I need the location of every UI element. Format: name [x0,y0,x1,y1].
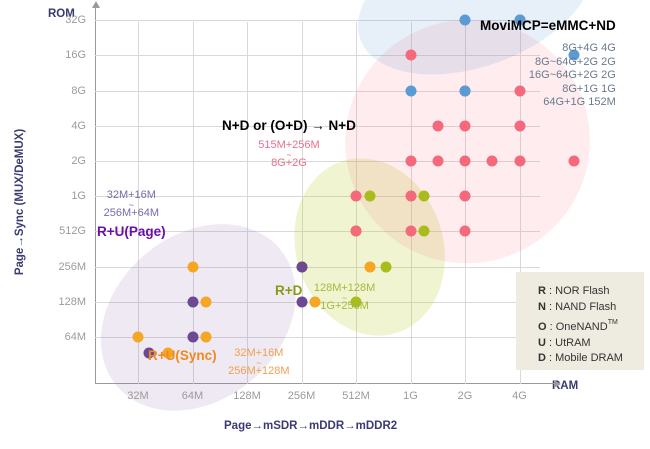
legend-row: N : NAND Flash [538,300,623,316]
y-tick-label: 256M [58,261,86,273]
data-point [296,261,307,272]
legend-value: : NAND Flash [546,301,616,313]
y-axis-arrow-icon [92,1,100,8]
cluster-label-nd-title: N+D or (O+D) → N+D [222,118,356,133]
legend-value: : OneNAND [547,321,608,333]
data-point [364,191,375,202]
legend-rows: R : NOR FlashN : NAND FlashO : OneNANDTM… [538,284,623,367]
data-point [405,191,416,202]
cluster-label-movimcp-title: MoviMCP=eMMC+ND [480,18,616,33]
legend-row: R : NOR Flash [538,284,623,300]
data-point [187,261,198,272]
x-tick-label: 64M [182,390,203,402]
data-point [569,156,580,167]
legend-key: D [538,352,546,364]
legend-box: R : NOR FlashN : NAND FlashO : OneNANDTM… [516,272,644,370]
legend-value: : NOR Flash [546,285,610,297]
data-point [405,226,416,237]
data-point [133,332,144,343]
data-point [514,120,525,131]
legend-key: U [538,337,546,349]
cluster-label-rupage: 32M+16M ~ 256M+64M R+U(Page) [97,190,166,239]
cluster-label-rupage-range-bottom: 256M+64M [97,208,166,220]
cluster-label-rd-title: R+D [275,283,302,298]
movimcp-spec-line: 8G+1G 1G [480,83,616,97]
cluster-label-movimcp: MoviMCP=eMMC+ND 8G+4G 4G8G~64G+2G 2G16G~… [480,18,616,110]
legend-key: R [538,285,546,297]
data-point [380,261,391,272]
data-point [405,50,416,61]
data-point [432,156,443,167]
y-tick-label: 2G [71,155,86,167]
data-point [419,226,430,237]
y-tick-label: 32G [65,14,86,26]
x-tick-label: 32M [127,390,148,402]
cluster-label-rd-range-bottom: 1G+256M [314,301,375,313]
data-point [201,332,212,343]
legend-key: N [538,301,546,313]
legend-row: U : UtRAM [538,336,623,352]
data-point [351,191,362,202]
data-point [460,191,471,202]
cluster-label-rusync-title: R+U(Sync) [148,348,217,363]
cluster-label-nd: N+D or (O+D) → N+D 515M+256M ~ 8G+2G [222,118,356,169]
data-point [460,226,471,237]
y-tick-label: 128M [58,296,86,308]
data-point [419,191,430,202]
legend-value: : Mobile DRAM [546,352,623,364]
x-tick-label: 4G [512,390,527,402]
cluster-label-rupage-title: R+U(Page) [97,224,166,239]
x-axis-arrow-icon [554,380,561,388]
legend-superscript: TM [608,319,618,326]
data-point [187,332,198,343]
legend-row: D : Mobile DRAM [538,351,623,367]
y-tick-label: 4G [71,120,86,132]
data-point [432,120,443,131]
cluster-label-nd-range-bottom: 8G+2G [222,158,356,170]
movimcp-spec-line: 8G~64G+2G 2G [480,56,616,70]
y-tick-label: 1G [71,190,86,202]
y-axis-title: Page→Sync (MUX/DeMUX) [14,122,26,282]
y-tick-label: 8G [71,85,86,97]
x-axis-title: Page→mSDR→mDDR→mDDR2 [224,420,397,432]
x-tick-label: 512M [342,390,370,402]
data-point [460,15,471,26]
movimcp-spec-line: 16G~64G+2G 2G [480,69,616,83]
data-point [460,156,471,167]
legend-key: O [538,321,547,333]
y-tick-label: 512G [59,225,86,237]
x-tick-label: 128M [233,390,261,402]
x-tick-label: 256M [288,390,316,402]
data-point [364,261,375,272]
data-point [460,120,471,131]
x-tick-label: 1G [403,390,418,402]
data-point [351,226,362,237]
x-tick-label: 2G [458,390,473,402]
data-point [460,85,471,96]
legend-value: : UtRAM [546,337,591,349]
y-tick-label: 16G [65,49,86,61]
movimcp-spec-line: 8G+4G 4G [480,42,616,56]
cluster-label-movimcp-specs: 8G+4G 4G8G~64G+2G 2G16G~64G+2G 2G8G+1G 1… [480,42,616,110]
data-point [201,296,212,307]
data-point [187,296,198,307]
cluster-label-rusync-range-bottom: 256M+128M [228,366,289,378]
data-point [405,85,416,96]
chart-root: ROM RAM Page→Sync (MUX/DeMUX) Page→mSDR→… [0,0,650,443]
y-tick-label: 64M [65,331,86,343]
movimcp-spec-line: 64G+1G 152M [480,96,616,110]
data-point [514,156,525,167]
data-point [487,156,498,167]
cluster-label-rusync: R+U(Sync) 32M+16M ~ 256M+128M [148,348,290,377]
data-point [405,156,416,167]
cluster-label-rd: R+D 128M+128M ~ 1G+256M [275,283,375,312]
legend-row: O : OneNANDTM [538,315,623,336]
